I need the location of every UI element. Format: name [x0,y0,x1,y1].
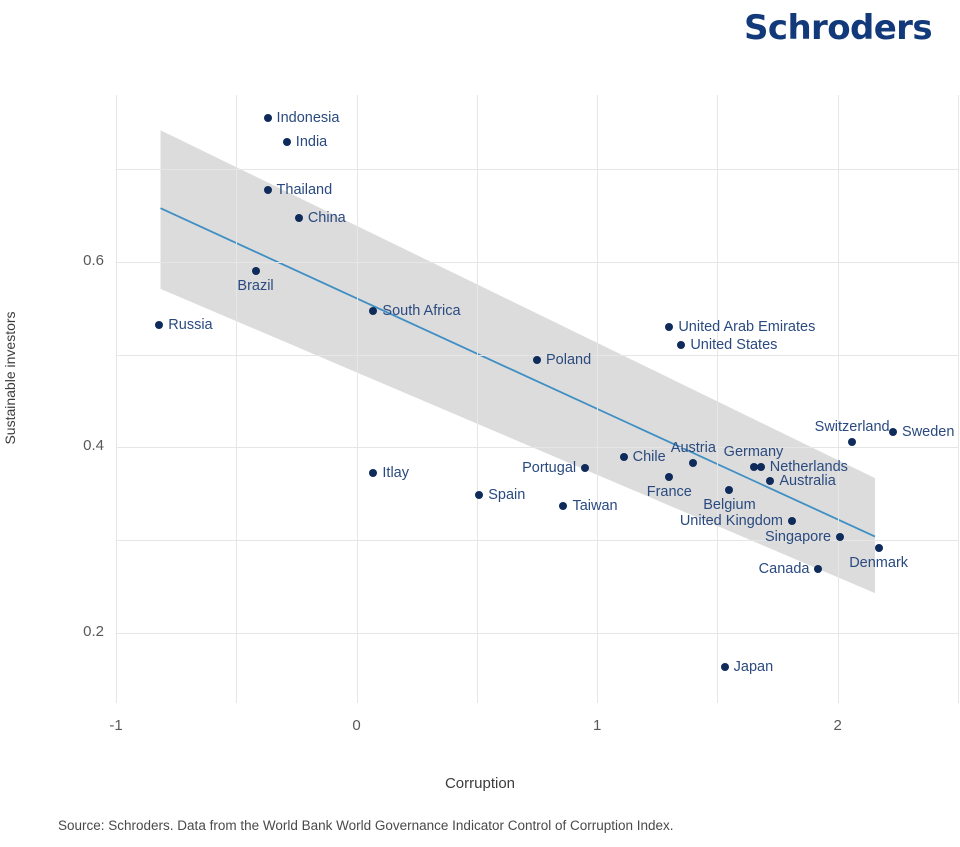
data-point-label: United Arab Emirates [678,319,815,335]
data-point[interactable] [475,491,483,499]
data-point-label: China [308,210,346,226]
y-axis-title: Sustainable investors [2,198,18,558]
data-point-label: Germany [724,444,784,460]
data-point[interactable] [369,307,377,315]
data-point[interactable] [620,453,628,461]
gridline-horizontal [116,262,958,263]
gridline-vertical [236,95,237,703]
data-point-label: Thailand [277,182,333,198]
gridline-vertical [477,95,478,703]
chart-page: Schroders IndonesiaIndiaThailandChinaBra… [0,0,960,847]
gridline-vertical [597,95,598,703]
data-point[interactable] [283,138,291,146]
y-axis-tick-label: 0.4 [44,437,104,454]
gridline-horizontal [116,447,958,448]
source-note: Source: Schroders. Data from the World B… [58,818,674,833]
data-point[interactable] [814,565,822,573]
data-point-label: Taiwan [572,498,617,514]
data-point-label: Indonesia [277,110,340,126]
data-point-label: Spain [488,487,525,503]
gridline-vertical [838,95,839,703]
data-point[interactable] [766,477,774,485]
gridline-horizontal [116,633,958,634]
data-point[interactable] [252,267,260,275]
data-point[interactable] [848,438,856,446]
data-point[interactable] [295,214,303,222]
schroders-logo: Schroders [744,8,932,48]
data-point[interactable] [581,464,589,472]
gridline-horizontal [116,169,958,170]
data-point-label: United Kingdom [680,513,783,529]
data-point-label: Japan [734,659,774,675]
data-point[interactable] [788,517,796,525]
data-point-label: Itlay [382,465,409,481]
gridline-vertical [116,95,117,703]
data-point-label: Chile [633,449,666,465]
x-axis-title: Corruption [0,775,960,792]
y-axis-tick-label: 0.6 [44,252,104,269]
x-axis-tick-label: 0 [327,717,387,734]
data-point-label: Belgium [703,497,755,513]
data-point[interactable] [665,323,673,331]
data-point[interactable] [369,469,377,477]
data-point[interactable] [677,341,685,349]
data-point[interactable] [665,473,673,481]
x-axis-tick-label: -1 [86,717,146,734]
data-point-label: Brazil [237,278,273,294]
data-point[interactable] [721,663,729,671]
gridline-horizontal [116,540,958,541]
data-point[interactable] [889,428,897,436]
gridline-vertical [717,95,718,703]
data-point-label: Canada [759,561,810,577]
data-point-label: Australia [779,473,835,489]
gridline-vertical [357,95,358,703]
data-point-label: France [647,484,692,500]
data-point[interactable] [264,114,272,122]
data-point-label: Austria [671,440,716,456]
x-axis-tick-label: 2 [808,717,868,734]
data-point[interactable] [155,321,163,329]
data-point[interactable] [533,356,541,364]
data-point-label: South Africa [382,303,460,319]
plot-area: IndonesiaIndiaThailandChinaBrazilSouth A… [116,95,958,633]
gridline-vertical [958,95,959,703]
data-point-label: Denmark [849,555,908,571]
data-point-label: Portugal [522,460,576,476]
data-point[interactable] [559,502,567,510]
x-axis-tick-label: 1 [567,717,627,734]
data-point[interactable] [875,544,883,552]
data-point-label: United States [690,337,777,353]
data-point-label: Switzerland [815,419,890,435]
data-point[interactable] [725,486,733,494]
data-point-label: Singapore [765,529,831,545]
data-point-label: Russia [168,317,212,333]
data-point[interactable] [689,459,697,467]
data-point[interactable] [757,463,765,471]
data-point-label: India [296,134,327,150]
data-point-label: Poland [546,352,591,368]
y-axis-tick-label: 0.2 [44,623,104,640]
data-point[interactable] [264,186,272,194]
data-point-label: Sweden [902,424,954,440]
data-point[interactable] [836,533,844,541]
